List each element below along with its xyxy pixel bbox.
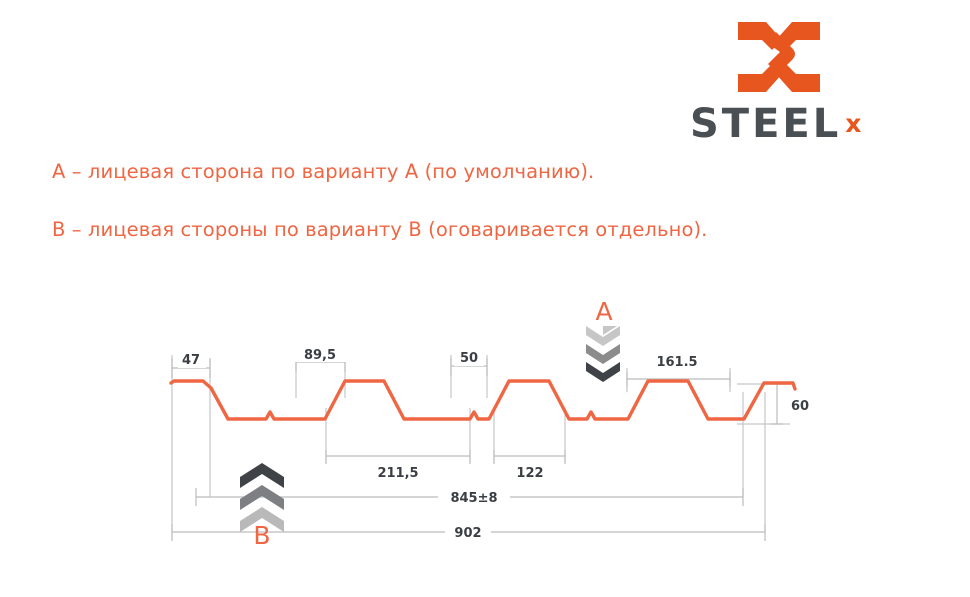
dim-161-5-label: 161.5 xyxy=(656,355,697,370)
marker-a: A xyxy=(586,297,620,382)
dim-845-label: 845±8 xyxy=(450,491,497,506)
marker-b-label: B xyxy=(253,521,270,550)
dim-60-label: 60 xyxy=(791,399,809,414)
dim-47-label: 47 xyxy=(182,353,200,368)
dim-902-label: 902 xyxy=(454,526,481,541)
chevron-down-icon xyxy=(586,326,620,382)
dim-89-5: 89,5 xyxy=(294,344,346,372)
dim-60: 60 xyxy=(771,384,809,424)
dim-47: 47 xyxy=(172,350,210,378)
dim-211-5-label: 211,5 xyxy=(377,466,418,481)
dim-211-5: 211,5 xyxy=(326,450,470,481)
profile-outline xyxy=(171,381,795,419)
dim-50: 50 xyxy=(451,348,487,376)
marker-a-label: A xyxy=(595,297,612,326)
marker-b: B xyxy=(240,463,284,550)
dim-50-label: 50 xyxy=(460,351,478,366)
profile-drawing: 47 89,5 50 161.5 xyxy=(0,0,970,597)
dim-122: 122 xyxy=(494,450,565,481)
dim-89-5-label: 89,5 xyxy=(304,348,336,363)
dim-122-label: 122 xyxy=(516,466,543,481)
